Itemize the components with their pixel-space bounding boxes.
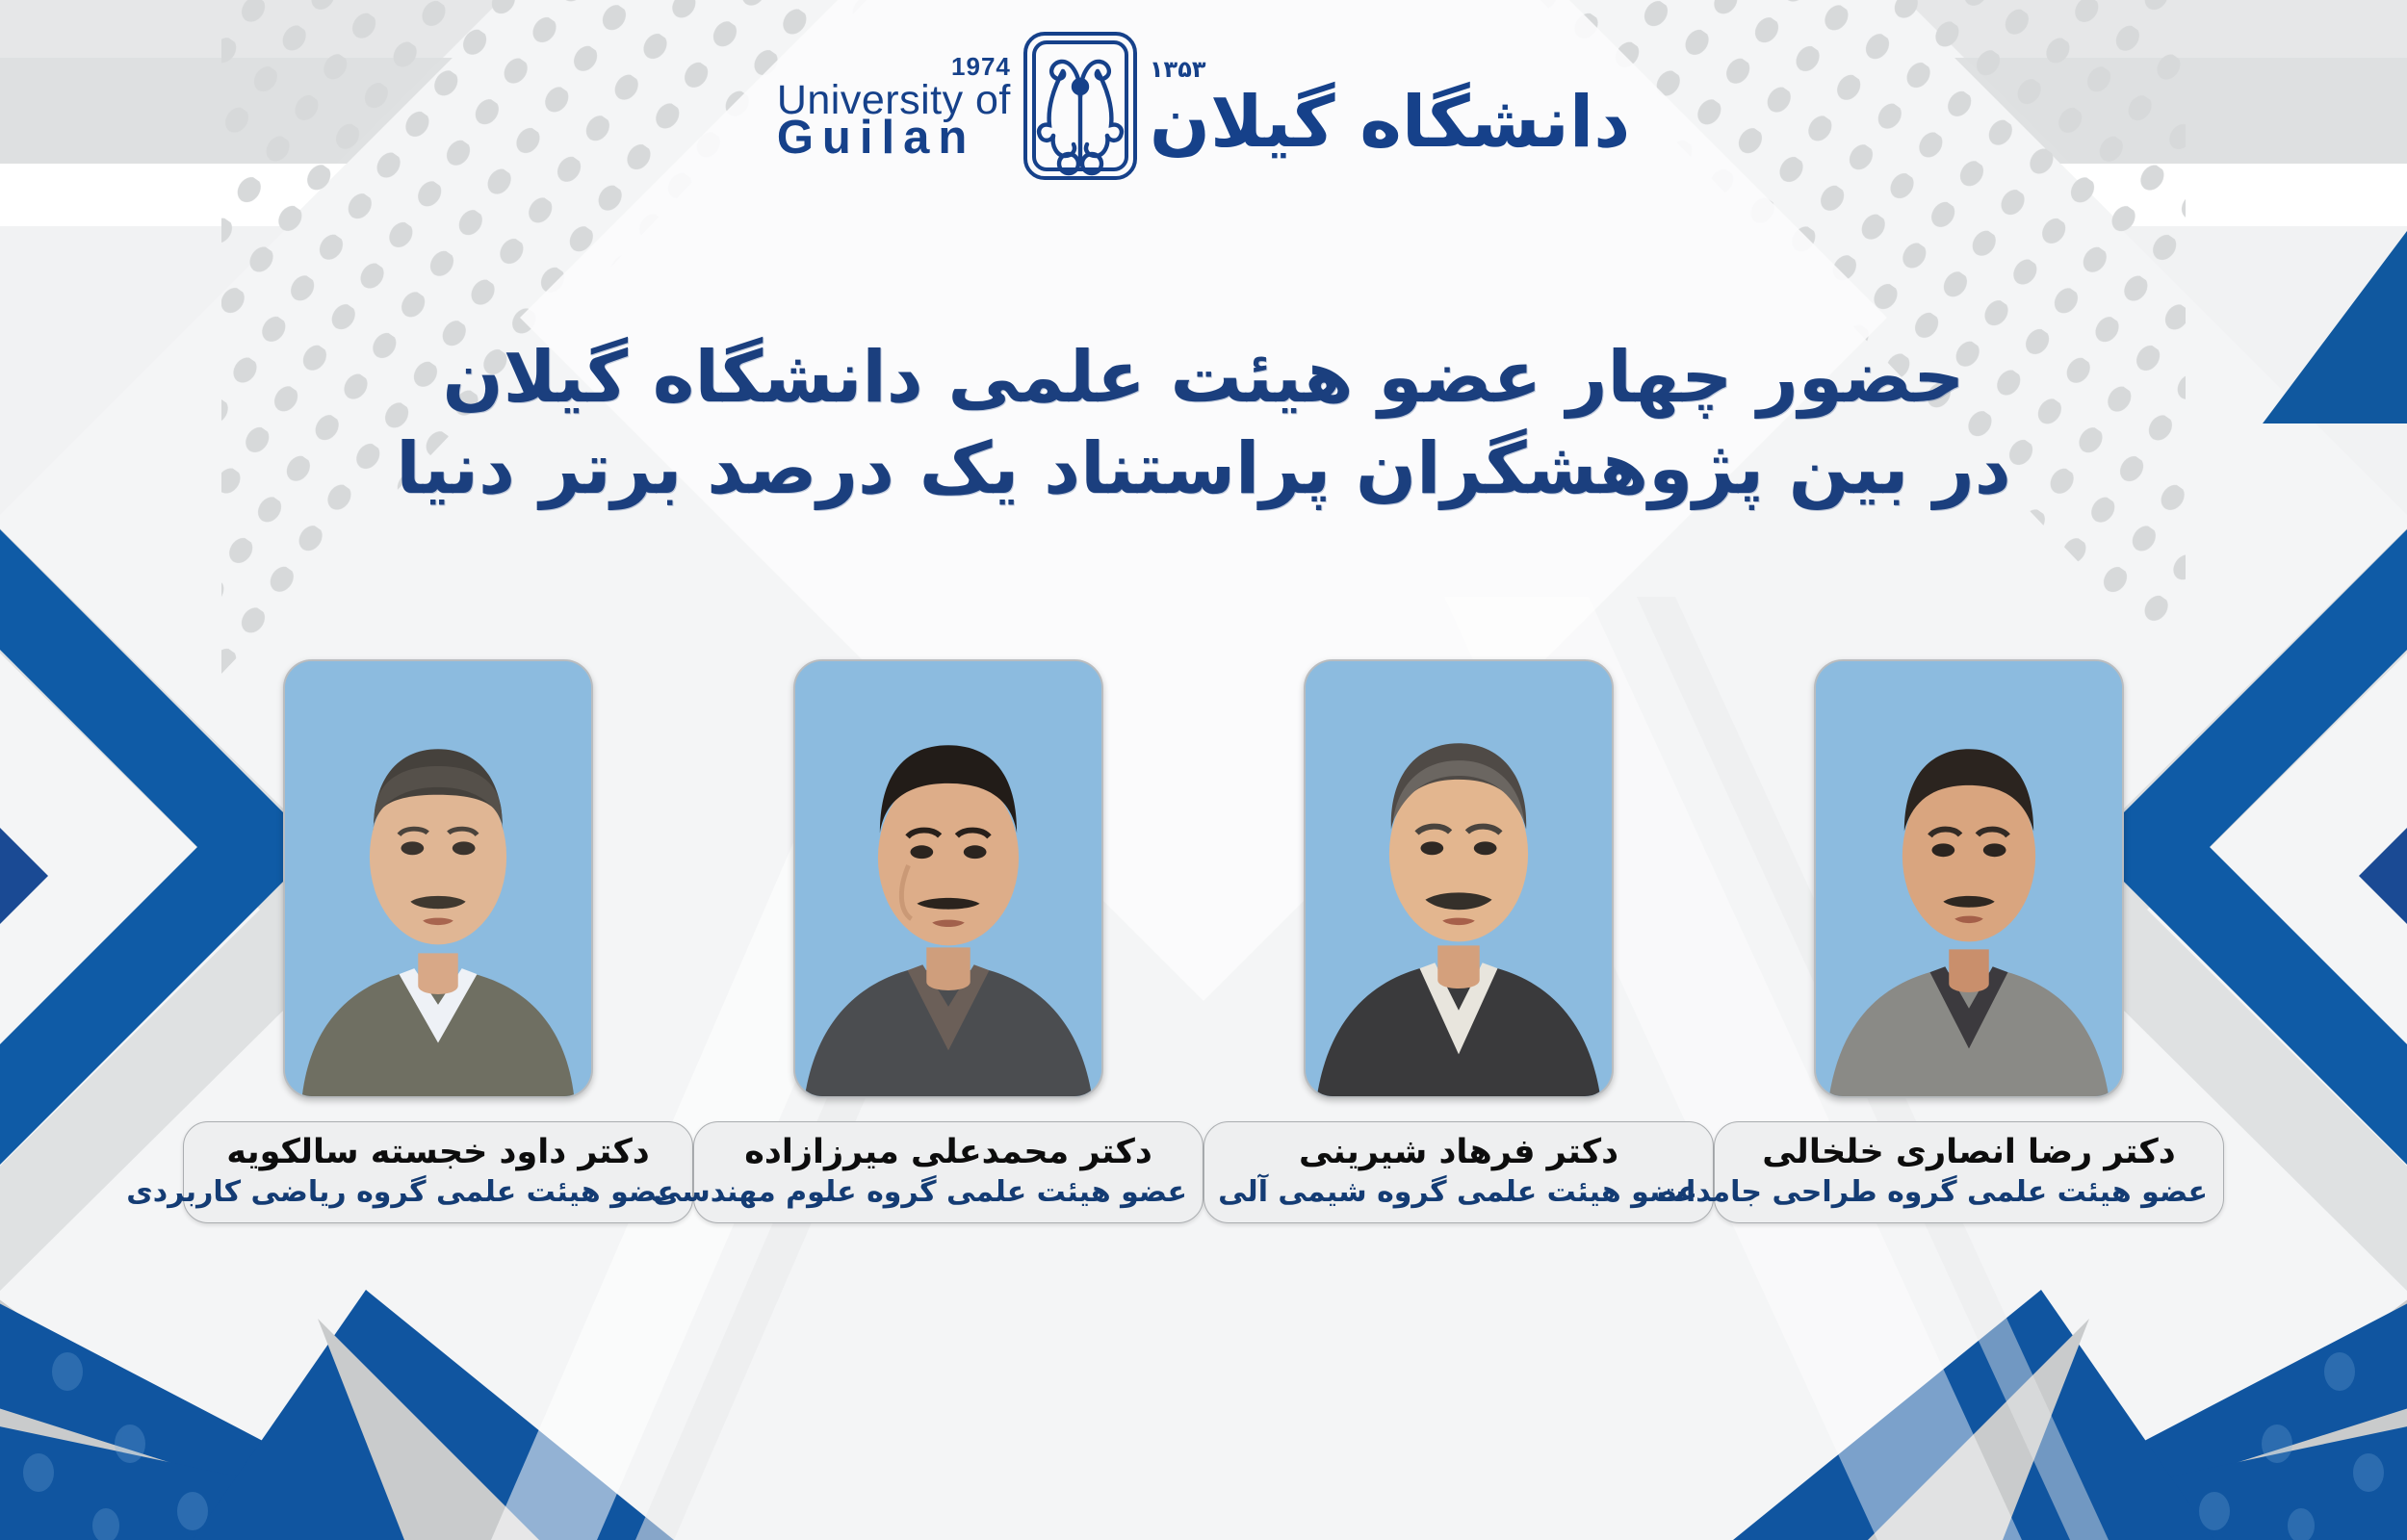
portrait-photo	[793, 659, 1103, 1098]
logo-english-text: 1974 University of Guilan	[777, 55, 1011, 161]
page-title: حضور چهار عضو هیئت علمی دانشگاه گیلان در…	[0, 332, 2407, 514]
portrait-photo	[1304, 659, 1614, 1098]
researcher-nameplate: دکتر فرهاد شیرینی عضو هیئت علمی گروه شیم…	[1203, 1121, 1714, 1223]
researcher-card: دکتر محمدعلی میرزازاده عضو هیئت علمی گرو…	[693, 659, 1203, 1223]
researcher-card: دکتر داود خجسته سالکویه عضو هیئت علمی گر…	[183, 659, 693, 1223]
researcher-name: دکتر محمدعلی میرزازاده	[710, 1133, 1187, 1172]
researcher-role: عضو هیئت علمی گروه ریاضی کاربردی	[199, 1175, 677, 1210]
headline-line-2: در بین پژوهشگران پراستناد یک درصد برتر د…	[0, 423, 2407, 515]
guilan-emblem-icon	[1021, 29, 1140, 187]
researcher-role: عضو هیئت علمی گروه شیمی آلی	[1220, 1175, 1697, 1210]
portrait-photo	[1814, 659, 2124, 1098]
researcher-nameplate: دکتر داود خجسته سالکویه عضو هیئت علمی گر…	[183, 1121, 693, 1223]
researcher-nameplate: دکتر رضا انصاری خلخالی عضو هیئت علمی گرو…	[1714, 1121, 2224, 1223]
researcher-name: دکتر فرهاد شیرینی	[1220, 1133, 1697, 1172]
researcher-name: دکتر رضا انصاری خلخالی	[1730, 1133, 2208, 1172]
university-logo: 1974 University of Guilan	[0, 29, 2407, 187]
researcher-nameplate: دکتر محمدعلی میرزازاده عضو هیئت علمی گرو…	[693, 1121, 1203, 1223]
poster-canvas: 1974 University of Guilan	[0, 0, 2407, 1540]
researchers-row: دکتر داود خجسته سالکویه عضو هیئت علمی گر…	[0, 659, 2407, 1223]
researcher-card: دکتر رضا انصاری خلخالی عضو هیئت علمی گرو…	[1714, 659, 2224, 1223]
researcher-role: عضو هیئت علمی گروه طراحی جامدات	[1730, 1175, 2208, 1210]
researcher-card: دکتر فرهاد شیرینی عضو هیئت علمی گروه شیم…	[1203, 659, 1714, 1223]
portrait-photo	[283, 659, 593, 1098]
researcher-role: عضو هیئت علمی گروه علوم مهندسی	[710, 1175, 1187, 1210]
logo-founding-year-persian: ۱۳۵۳	[1150, 58, 1630, 81]
headline-line-1: حضور چهار عضو هیئت علمی دانشگاه گیلان	[0, 332, 2407, 423]
researcher-name: دکتر داود خجسته سالکویه	[199, 1133, 677, 1172]
logo-founding-year-gregorian: 1974	[777, 55, 1011, 79]
logo-university-name-persian: دانشگاه گیلان	[1150, 87, 1630, 158]
logo-persian-text: ۱۳۵۳ دانشگاه گیلان	[1150, 58, 1630, 158]
